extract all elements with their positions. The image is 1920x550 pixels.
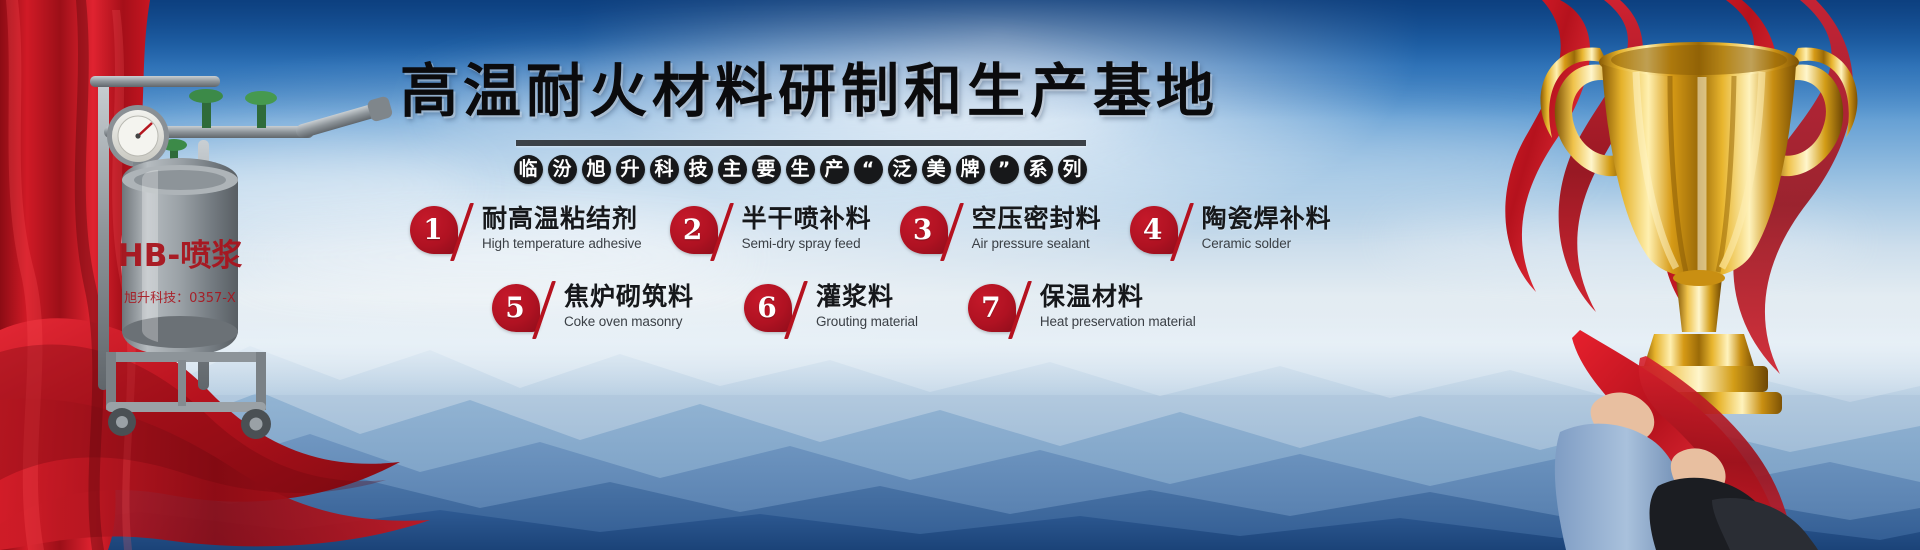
product-item[interactable]: 1 耐高温粘结剂 High temperature adhesive	[410, 205, 642, 259]
promo-banner: HB-喷浆 旭升科技：0357-X	[0, 0, 1920, 550]
subtitle-char: 汾	[548, 155, 577, 184]
page-title: 高温耐火材料研制和生产基地	[400, 62, 1200, 120]
product-name-en: Coke oven masonry	[564, 314, 694, 330]
subtitle-circle-row: 临 汾 旭 升 科 技 主 要 生 产 “ 泛 美 牌 ” 系 列	[400, 155, 1200, 184]
product-item[interactable]: 3 空压密封料 Air pressure sealant	[900, 205, 1102, 259]
subtitle-char: 产	[820, 155, 849, 184]
badge-number: 6	[744, 284, 792, 332]
subtitle-char: 技	[684, 155, 713, 184]
subtitle-char: 牌	[956, 155, 985, 184]
badge-number: 2	[670, 206, 718, 254]
product-text: 焦炉砌筑料 Coke oven masonry	[558, 283, 694, 330]
subtitle-char: 科	[650, 155, 679, 184]
product-text: 半干喷补料 Semi-dry spray feed	[736, 205, 872, 252]
badge-number: 1	[410, 206, 458, 254]
product-name-cn: 耐高温粘结剂	[482, 205, 642, 233]
subtitle-char: 列	[1058, 155, 1087, 184]
product-name-en: Air pressure sealant	[972, 236, 1102, 252]
product-name-en: Grouting material	[816, 314, 918, 330]
slash-divider-icon	[1174, 205, 1196, 259]
product-name-en: Ceramic solder	[1202, 236, 1332, 252]
slash-divider-icon	[1012, 283, 1034, 337]
product-item[interactable]: 7 保温材料 Heat preservation material	[968, 283, 1196, 337]
slash-divider-icon	[714, 205, 736, 259]
product-item[interactable]: 4 陶瓷焊补料 Ceramic solder	[1130, 205, 1332, 259]
number-badge: 7	[968, 284, 1016, 332]
subtitle-char: 要	[752, 155, 781, 184]
number-badge: 3	[900, 206, 948, 254]
number-badge: 1	[410, 206, 458, 254]
subtitle-char: 系	[1024, 155, 1053, 184]
subtitle-char: 泛	[888, 155, 917, 184]
product-item[interactable]: 2 半干喷补料 Semi-dry spray feed	[670, 205, 872, 259]
product-name-cn: 焦炉砌筑料	[564, 283, 694, 311]
banner-content: 高温耐火材料研制和生产基地 临 汾 旭 升 科 技 主 要 生 产 “ 泛 美 …	[0, 0, 1920, 550]
product-text: 保温材料 Heat preservation material	[1034, 283, 1196, 330]
product-list-row-2: 5 焦炉砌筑料 Coke oven masonry 6 灌浆料 Grouting…	[492, 283, 1196, 337]
slash-divider-icon	[536, 283, 558, 337]
slash-divider-icon	[454, 205, 476, 259]
title-divider	[516, 140, 1086, 146]
product-name-en: Semi-dry spray feed	[742, 236, 872, 252]
product-list-row-1: 1 耐高温粘结剂 High temperature adhesive 2 半干喷…	[410, 205, 1332, 259]
badge-number: 4	[1130, 206, 1178, 254]
product-name-cn: 半干喷补料	[742, 205, 872, 233]
subtitle-char: 临	[514, 155, 543, 184]
product-name-en: Heat preservation material	[1040, 314, 1196, 330]
slash-divider-icon	[788, 283, 810, 337]
number-badge: 6	[744, 284, 792, 332]
subtitle-char: 升	[616, 155, 645, 184]
badge-number: 3	[900, 206, 948, 254]
product-name-cn: 陶瓷焊补料	[1202, 205, 1332, 233]
subtitle-char: 主	[718, 155, 747, 184]
product-text: 耐高温粘结剂 High temperature adhesive	[476, 205, 642, 252]
product-name-cn: 保温材料	[1040, 283, 1196, 311]
product-text: 灌浆料 Grouting material	[810, 283, 918, 330]
product-item[interactable]: 5 焦炉砌筑料 Coke oven masonry	[492, 283, 694, 337]
badge-number: 5	[492, 284, 540, 332]
subtitle-char: 美	[922, 155, 951, 184]
product-item[interactable]: 6 灌浆料 Grouting material	[744, 283, 918, 337]
number-badge: 2	[670, 206, 718, 254]
product-name-en: High temperature adhesive	[482, 236, 642, 252]
product-text: 陶瓷焊补料 Ceramic solder	[1196, 205, 1332, 252]
number-badge: 5	[492, 284, 540, 332]
product-name-cn: 灌浆料	[816, 283, 918, 311]
subtitle-char: “	[854, 155, 883, 184]
subtitle-char: 生	[786, 155, 815, 184]
product-text: 空压密封料 Air pressure sealant	[966, 205, 1102, 252]
subtitle-char: ”	[990, 155, 1019, 184]
badge-number: 7	[968, 284, 1016, 332]
subtitle-char: 旭	[582, 155, 611, 184]
slash-divider-icon	[944, 205, 966, 259]
number-badge: 4	[1130, 206, 1178, 254]
product-name-cn: 空压密封料	[972, 205, 1102, 233]
